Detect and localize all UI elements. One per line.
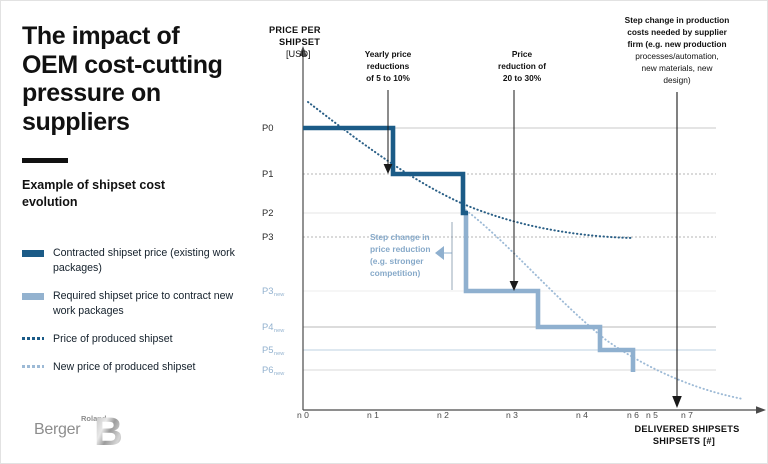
x-tick-label: n 2 (437, 410, 449, 420)
y-tick-label: P2 (262, 207, 273, 218)
x-tick-label: n 1 (367, 410, 379, 420)
chart-legend: Contracted shipset price (existing work … (22, 246, 258, 388)
annotation-arrow-left-icon (435, 246, 444, 260)
left-panel: The impact of OEM cost-cutting pressure … (22, 22, 254, 210)
y-tick-label-sub: new (274, 328, 285, 334)
y-axis-unit: [USD] (286, 49, 311, 59)
y-tick-label: P5 (262, 344, 273, 355)
annotation-line: Yearly price (365, 49, 412, 59)
logo-wordmark: Berger (34, 421, 80, 439)
x-tick-label: n 0 (297, 410, 309, 420)
logo: Berger Roland B (34, 412, 144, 454)
x-tick-label: n 3 (506, 410, 518, 420)
x-axis-title: DELIVERED SHIPSETS (634, 424, 739, 434)
legend-item-contracted-price: Contracted shipset price (existing work … (22, 246, 258, 276)
y-tick-label: P6 (262, 364, 273, 375)
annotation-line: Step change in (370, 232, 430, 242)
x-tick-label: n 5 (646, 410, 658, 420)
annotation-line: firm (e.g. new production (627, 39, 726, 49)
legend-swatch-solid-light (22, 293, 44, 300)
x-axis-title-unit: SHIPSETS [#] (653, 436, 715, 446)
y-tick-label-sub: new (274, 371, 285, 377)
x-tick-labels: n 0 n 1 n 2 n 3 n 4 n 5 n 6 n 7 (297, 410, 693, 420)
annotation-price-reduction-20-30: Price reduction of 20 to 30% (498, 49, 546, 291)
y-tick-label: P4 (262, 321, 273, 332)
annotation-line: competition) (370, 268, 420, 278)
annotation-line: reductions (367, 61, 410, 71)
y-tick-label: P0 (262, 122, 273, 133)
legend-item-label: Required shipset price to contract new w… (53, 289, 258, 319)
series-price-of-produced-shipset (308, 102, 633, 238)
legend-swatch-dotted-dark (22, 337, 44, 341)
x-tick-label: n 7 (681, 410, 693, 420)
annotation-line: reduction of (498, 61, 546, 71)
y-axis-title-l2: SHIPSET (279, 37, 320, 47)
title-divider (22, 158, 68, 163)
y-axis-title-l1: PRICE PER (269, 25, 321, 35)
x-tick-label: n 6 (627, 410, 639, 420)
annotation-yearly-price-reductions: Yearly price reductions of 5 to 10% (365, 49, 412, 174)
annotation-line: of 5 to 10% (366, 73, 410, 83)
annotation-line: new materials, new (641, 63, 713, 73)
y-tick-label: P3 (262, 231, 273, 242)
annotation-arrow-down-icon (672, 396, 682, 408)
chart-gridlines (303, 128, 716, 370)
annotation-line: processes/automation, (635, 51, 718, 61)
y-tick-label-sub: new (274, 292, 285, 298)
legend-item-new-price-produced: New price of produced shipset (22, 360, 258, 375)
legend-item-price-produced: Price of produced shipset (22, 332, 258, 347)
legend-swatch-solid-dark (22, 250, 44, 257)
logo-mark-b: B (94, 412, 123, 452)
annotation-line: (e.g. stronger (370, 256, 424, 266)
annotation-line: Step change in production (625, 15, 730, 25)
y-tick-label: P3 (262, 285, 273, 296)
annotation-line: design) (663, 75, 690, 85)
series-contracted-shipset-price (303, 128, 468, 213)
x-tick-label: n 4 (576, 410, 588, 420)
legend-item-required-price: Required shipset price to contract new w… (22, 289, 258, 319)
legend-swatch-dotted-light (22, 365, 44, 369)
page-title: The impact of OEM cost-cutting pressure … (22, 22, 254, 136)
legend-item-label: Contracted shipset price (existing work … (53, 246, 258, 276)
annotation-step-change-price-reduction: Step change in price reduction (e.g. str… (370, 222, 452, 290)
y-tick-labels: P0 P1 P2 P3 P3 new P4 new P5 new P6 new (262, 122, 285, 377)
annotation-line: Price (512, 49, 533, 59)
annotation-line: costs needed by supplier (627, 27, 727, 37)
annotation-line: price reduction (370, 244, 431, 254)
legend-item-label: New price of produced shipset (53, 360, 196, 375)
y-tick-label: P1 (262, 168, 273, 179)
y-tick-label-sub: new (274, 351, 285, 357)
page-subtitle: Example of shipset cost evolution (22, 177, 212, 210)
legend-item-label: Price of produced shipset (53, 332, 173, 347)
chart-area: PRICE PER SHIPSET [USD] DELIVERED SHIPSE… (256, 0, 768, 464)
annotation-step-change-production-costs: Step change in production costs needed b… (625, 15, 730, 408)
annotation-line: 20 to 30% (503, 73, 542, 83)
y-axis (299, 46, 307, 410)
